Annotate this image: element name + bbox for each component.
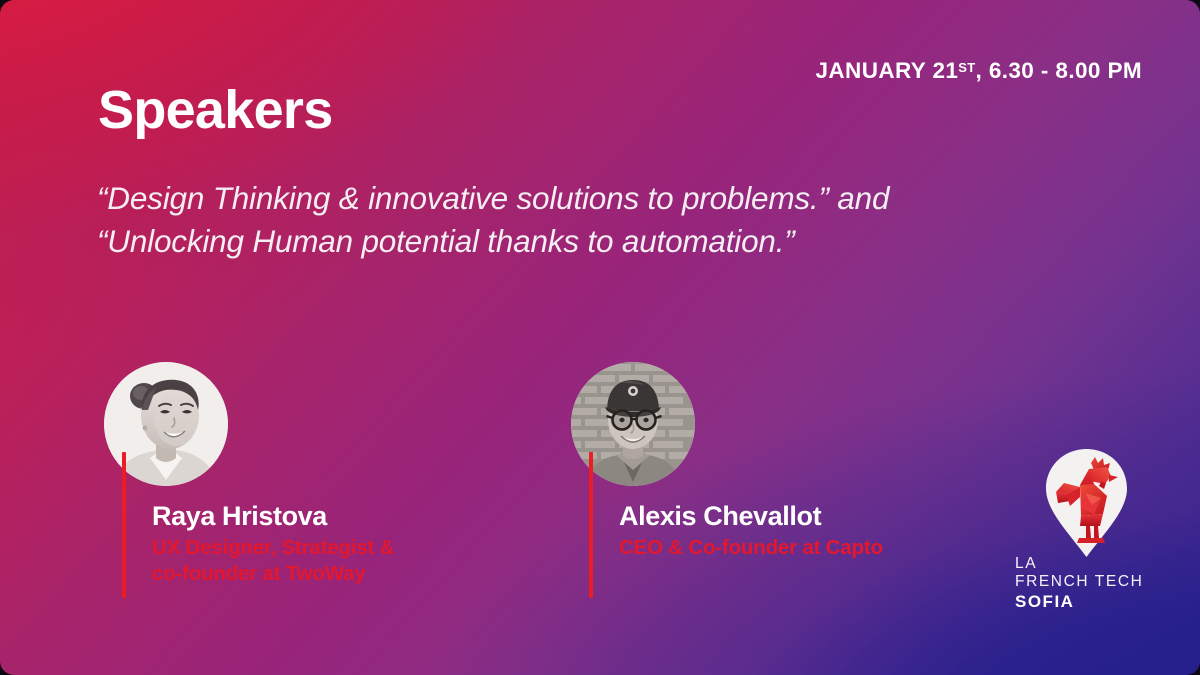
event-date-suffix: , 6.30 - 8.00 PM xyxy=(976,58,1142,83)
quote-line-2: “Unlocking Human potential thanks to aut… xyxy=(97,220,1157,263)
speaker-card-2: Alexis Chevallot CEO & Co-founder at Cap… xyxy=(571,362,695,486)
speaker-role: CEO & Co-founder at Capto xyxy=(619,535,1019,561)
quote-line-1: “Design Thinking & innovative solutions … xyxy=(97,177,1157,220)
accent-bar xyxy=(122,452,126,598)
speaker-name: Alexis Chevallot xyxy=(619,501,1019,531)
speakers-slide: Speakers JANUARY 21ST, 6.30 - 8.00 PM “D… xyxy=(0,0,1200,675)
speaker-role-line-2: co-founder at TwoWay xyxy=(152,561,552,587)
logo-line-la: LA xyxy=(1015,555,1143,573)
page-title: Speakers xyxy=(98,83,333,137)
la-french-tech-logo: LA FRENCH TECH SOFIA xyxy=(1011,447,1163,612)
rooster-pin-icon xyxy=(1039,447,1134,559)
logo-text: LA FRENCH TECH SOFIA xyxy=(1015,555,1143,612)
speaker-card-1: Raya Hristova UX Designer, Strategist & … xyxy=(104,362,228,486)
event-date-prefix: JANUARY 21 xyxy=(815,58,958,83)
logo-line-french-tech: FRENCH TECH xyxy=(1015,573,1143,591)
event-date-ordinal: ST xyxy=(958,60,975,75)
speaker-name: Raya Hristova xyxy=(152,501,552,531)
speaker-role: UX Designer, Strategist & co-founder at … xyxy=(152,535,552,587)
speaker-info: Raya Hristova UX Designer, Strategist & … xyxy=(152,501,552,587)
talk-titles-quote: “Design Thinking & innovative solutions … xyxy=(97,177,1157,264)
speaker-role-line-1: CEO & Co-founder at Capto xyxy=(619,535,1019,561)
accent-bar xyxy=(589,452,593,598)
logo-line-city: SOFIA xyxy=(1015,592,1143,612)
speaker-info: Alexis Chevallot CEO & Co-founder at Cap… xyxy=(619,501,1019,561)
event-date: JANUARY 21ST, 6.30 - 8.00 PM xyxy=(815,58,1142,84)
speaker-role-line-1: UX Designer, Strategist & xyxy=(152,535,552,561)
